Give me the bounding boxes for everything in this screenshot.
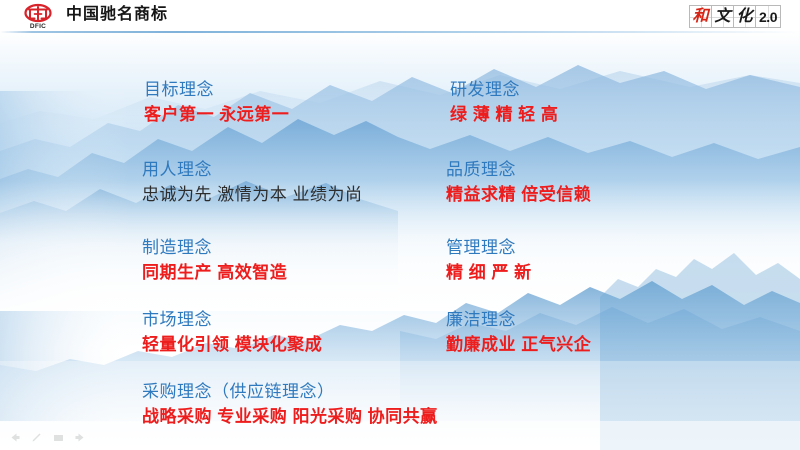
quality-body: 精益求精 倍受信赖 bbox=[446, 182, 591, 208]
concept-block-management: 管理理念 精 细 严 新 bbox=[446, 236, 532, 286]
talent-body: 忠诚为先 激情为本 业绩为尚 bbox=[142, 182, 362, 208]
slide-content: 目标理念 客户第一 永远第一 研发理念 绿 薄 精 轻 高 用人理念 忠诚为先 … bbox=[0, 0, 800, 450]
callig-cell-wen: 文 bbox=[711, 5, 734, 28]
concept-block-manufacture: 制造理念 同期生产 高效智造 bbox=[142, 236, 287, 286]
goal-body: 客户第一 永远第一 bbox=[144, 102, 289, 128]
concept-block-goal: 目标理念 客户第一 永远第一 bbox=[144, 78, 289, 128]
quality-heading: 品质理念 bbox=[446, 158, 591, 182]
concept-block-quality: 品质理念 精益求精 倍受信赖 bbox=[446, 158, 591, 208]
market-body: 轻量化引领 模块化聚成 bbox=[142, 332, 322, 358]
presenter-controls[interactable] bbox=[8, 431, 87, 444]
next-slide-arrow-icon[interactable] bbox=[74, 431, 87, 444]
dfic-dongfeng-logo-icon: DFIC bbox=[19, 3, 57, 29]
brand-title: 中国驰名商标 bbox=[66, 4, 168, 26]
rnd-heading: 研发理念 bbox=[450, 78, 558, 102]
talent-heading: 用人理念 bbox=[142, 158, 362, 182]
slide-header: DFIC 中国驰名商标 和 文 化 2.0 bbox=[0, 0, 800, 31]
previous-slide-arrow-icon[interactable] bbox=[8, 431, 21, 444]
concept-block-talent: 用人理念 忠诚为先 激情为本 业绩为尚 bbox=[142, 158, 362, 208]
he-culture-badge: 和 文 化 2.0 bbox=[690, 5, 781, 28]
callig-cell-hua: 化 bbox=[733, 5, 756, 28]
integrity-heading: 廉洁理念 bbox=[446, 308, 591, 332]
callig-glyph-hua: 化 bbox=[736, 9, 752, 25]
svg-text:DFIC: DFIC bbox=[30, 23, 46, 29]
concept-block-procurement: 采购理念（供应链理念） 战略采购 专业采购 阳光采购 协同共赢 bbox=[142, 380, 438, 430]
pen-tool-icon[interactable] bbox=[30, 431, 43, 444]
slide-menu-icon[interactable] bbox=[52, 431, 65, 444]
concept-block-integrity: 廉洁理念 勤廉成业 正气兴企 bbox=[446, 308, 591, 358]
callig-glyph-he: 和 bbox=[692, 9, 708, 25]
header-divider bbox=[0, 31, 800, 33]
manufacture-heading: 制造理念 bbox=[142, 236, 287, 260]
manufacture-body: 同期生产 高效智造 bbox=[142, 260, 287, 286]
management-body: 精 细 严 新 bbox=[446, 260, 532, 286]
callig-cell-he: 和 bbox=[689, 5, 712, 28]
procurement-body: 战略采购 专业采购 阳光采购 协同共赢 bbox=[142, 404, 438, 430]
callig-glyph-version: 2.0 bbox=[759, 10, 777, 24]
callig-cell-version: 2.0 bbox=[755, 5, 781, 28]
integrity-body: 勤廉成业 正气兴企 bbox=[446, 332, 591, 358]
procurement-heading: 采购理念（供应链理念） bbox=[142, 380, 438, 404]
goal-heading: 目标理念 bbox=[144, 78, 289, 102]
presentation-slide: DFIC 中国驰名商标 和 文 化 2.0 目标理念 客户第一 永远第一 bbox=[0, 0, 800, 450]
concept-block-market: 市场理念 轻量化引领 模块化聚成 bbox=[142, 308, 322, 358]
management-heading: 管理理念 bbox=[446, 236, 532, 260]
market-heading: 市场理念 bbox=[142, 308, 322, 332]
rnd-body: 绿 薄 精 轻 高 bbox=[450, 102, 558, 128]
concept-block-rnd: 研发理念 绿 薄 精 轻 高 bbox=[450, 78, 558, 128]
callig-glyph-wen: 文 bbox=[714, 9, 730, 25]
